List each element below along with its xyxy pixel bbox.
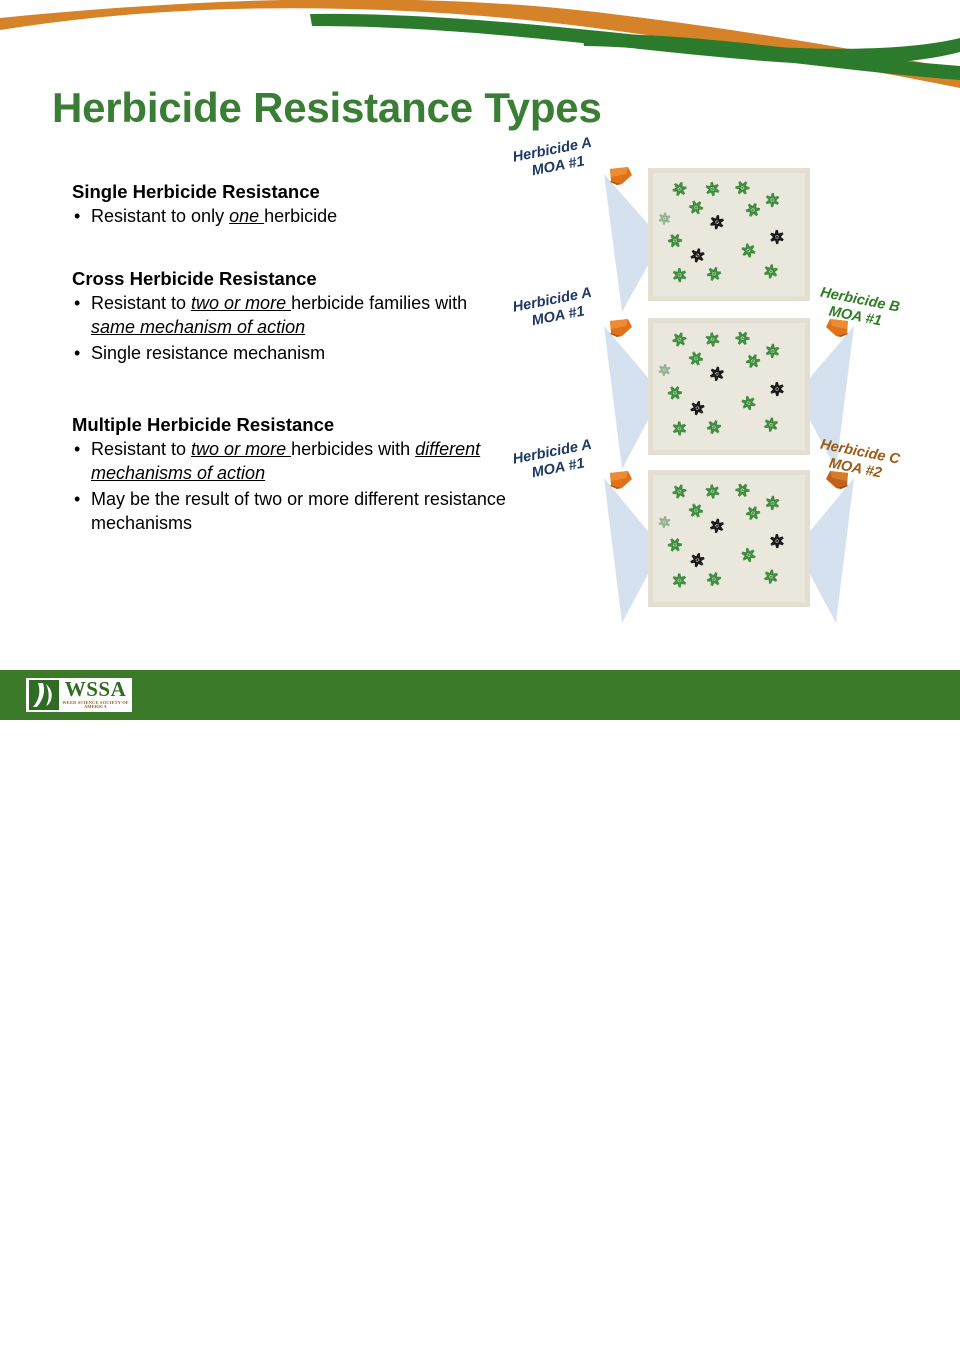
weed-plant-icon bbox=[732, 177, 753, 198]
list-item: May be the result of two or more differe… bbox=[72, 488, 512, 536]
weed-plant-icon bbox=[764, 343, 781, 360]
plain-text: Resistant to bbox=[91, 439, 191, 459]
list-item: Resistant to two or more herbicide famil… bbox=[72, 292, 512, 340]
block-bullets: Resistant to only one herbicide bbox=[72, 205, 512, 229]
block-single-herbicide-resistance: Single Herbicide Resistance Resistant to… bbox=[72, 180, 512, 229]
plot-weeds bbox=[653, 323, 805, 450]
weed-plant-icon bbox=[709, 518, 725, 533]
weed-plant-icon bbox=[658, 212, 671, 225]
plain-text: Resistant to only bbox=[91, 206, 229, 226]
orange-swoosh bbox=[0, 0, 960, 88]
weed-plant-icon bbox=[670, 266, 688, 284]
weed-plant-icon bbox=[743, 352, 762, 371]
nozzle-icon-top-left bbox=[608, 166, 634, 186]
label-herbicide-a-top: Herbicide A MOA #1 bbox=[511, 135, 596, 184]
weed-plant-icon bbox=[709, 214, 725, 229]
wssa-wordmark: WSSA WEED SCIENCE SOCIETY OF AMERICA bbox=[59, 680, 132, 709]
plain-text: herbicides with bbox=[291, 439, 415, 459]
wssa-logo: WSSA WEED SCIENCE SOCIETY OF AMERICA bbox=[24, 676, 134, 714]
weed-plant-icon bbox=[665, 535, 685, 555]
list-item: Single resistance mechanism bbox=[72, 342, 512, 366]
weed-plant-icon bbox=[738, 393, 758, 413]
weed-plant-icon bbox=[689, 400, 706, 417]
plain-text: Resistant to bbox=[91, 293, 191, 313]
weed-plant-icon bbox=[705, 570, 724, 588]
weed-plant-icon bbox=[732, 328, 753, 349]
slide: Herbicide Resistance Types Single Herbic… bbox=[0, 0, 960, 720]
page-number: 13 bbox=[885, 1353, 901, 1369]
resistance-diagram: Herbicide A MOA #1 Herbicide A MOA #1 bbox=[500, 140, 960, 640]
wssa-emblem-icon bbox=[29, 680, 59, 710]
weed-plant-icon bbox=[665, 231, 685, 251]
block-bullets: Resistant to two or more herbicides with… bbox=[72, 438, 512, 535]
label-herbicide-a-middle: Herbicide A MOA #1 bbox=[511, 285, 596, 334]
weed-plant-icon bbox=[768, 228, 786, 246]
weed-plant-icon bbox=[685, 500, 706, 521]
list-item: Resistant to only one herbicide bbox=[72, 205, 512, 229]
block-heading: Single Herbicide Resistance bbox=[72, 180, 512, 203]
block-heading: Cross Herbicide Resistance bbox=[72, 267, 512, 290]
single-resistance-plot bbox=[648, 168, 810, 301]
weed-plant-icon bbox=[703, 330, 722, 349]
weed-plant-icon bbox=[743, 504, 762, 523]
plain-text: Single resistance mechanism bbox=[91, 343, 325, 363]
weed-plant-icon bbox=[764, 495, 781, 512]
page-title: Herbicide Resistance Types bbox=[52, 84, 602, 132]
weed-plant-icon bbox=[703, 179, 722, 198]
nozzle-icon-bottom-left bbox=[608, 470, 634, 490]
weed-plant-icon bbox=[685, 197, 706, 218]
cross-resistance-plot bbox=[648, 318, 810, 455]
weed-plant-icon bbox=[763, 264, 779, 279]
weed-plant-icon bbox=[670, 483, 688, 501]
weed-plant-icon bbox=[658, 363, 671, 376]
plain-text: herbicide families with bbox=[291, 293, 467, 313]
weed-plant-icon bbox=[685, 348, 706, 369]
plain-text: May be the result of two or more differe… bbox=[91, 489, 506, 533]
multiple-resistance-plot bbox=[648, 470, 810, 607]
emphasis-text: one bbox=[229, 206, 264, 226]
plain-text: herbicide bbox=[264, 206, 337, 226]
nozzle-icon-middle-left bbox=[608, 318, 634, 338]
weed-plant-icon bbox=[670, 571, 688, 589]
weed-plant-icon bbox=[689, 247, 706, 264]
footer-copyright-text: WSSA Herbicide Resistance Management Les… bbox=[160, 1348, 751, 1364]
weed-plant-icon bbox=[709, 366, 725, 381]
emphasis-text: two or more bbox=[191, 439, 291, 459]
list-item: Resistant to two or more herbicides with… bbox=[72, 438, 512, 486]
weed-plant-icon bbox=[705, 418, 724, 436]
weed-plant-icon bbox=[764, 192, 781, 209]
emphasis-text: two or more bbox=[191, 293, 291, 313]
wssa-tagline: WEED SCIENCE SOCIETY OF AMERICA bbox=[59, 701, 132, 709]
block-bullets: Resistant to two or more herbicide famil… bbox=[72, 292, 512, 365]
plot-weeds bbox=[653, 475, 805, 602]
weed-plant-icon bbox=[763, 569, 779, 584]
weed-plant-icon bbox=[738, 545, 758, 565]
weed-plant-icon bbox=[768, 380, 786, 398]
weed-plant-icon bbox=[732, 480, 753, 501]
emphasis-text: same mechanism of action bbox=[91, 317, 305, 337]
weed-plant-icon bbox=[705, 265, 724, 283]
block-cross-herbicide-resistance: Cross Herbicide Resistance Resistant to … bbox=[72, 267, 512, 365]
footer-bar: WSSA WEED SCIENCE SOCIETY OF AMERICA WSS… bbox=[0, 670, 960, 720]
weed-plant-icon bbox=[670, 419, 688, 437]
weed-plant-icon bbox=[665, 383, 685, 403]
weed-plant-icon bbox=[670, 180, 688, 198]
label-herbicide-a-bottom: Herbicide A MOA #1 bbox=[511, 437, 596, 486]
weed-plant-icon bbox=[670, 331, 688, 349]
plot-weeds bbox=[653, 173, 805, 296]
block-heading: Multiple Herbicide Resistance bbox=[72, 413, 512, 436]
weed-plant-icon bbox=[768, 532, 786, 550]
weed-plant-icon bbox=[743, 200, 762, 219]
content-column: Single Herbicide Resistance Resistant to… bbox=[72, 180, 512, 535]
weed-plant-icon bbox=[738, 241, 758, 261]
weed-plant-icon bbox=[658, 515, 671, 528]
wssa-word: WSSA bbox=[65, 677, 127, 701]
weed-plant-icon bbox=[763, 417, 779, 432]
weed-plant-icon bbox=[703, 482, 722, 501]
weed-plant-icon bbox=[689, 552, 706, 569]
block-multiple-herbicide-resistance: Multiple Herbicide Resistance Resistant … bbox=[72, 413, 512, 535]
